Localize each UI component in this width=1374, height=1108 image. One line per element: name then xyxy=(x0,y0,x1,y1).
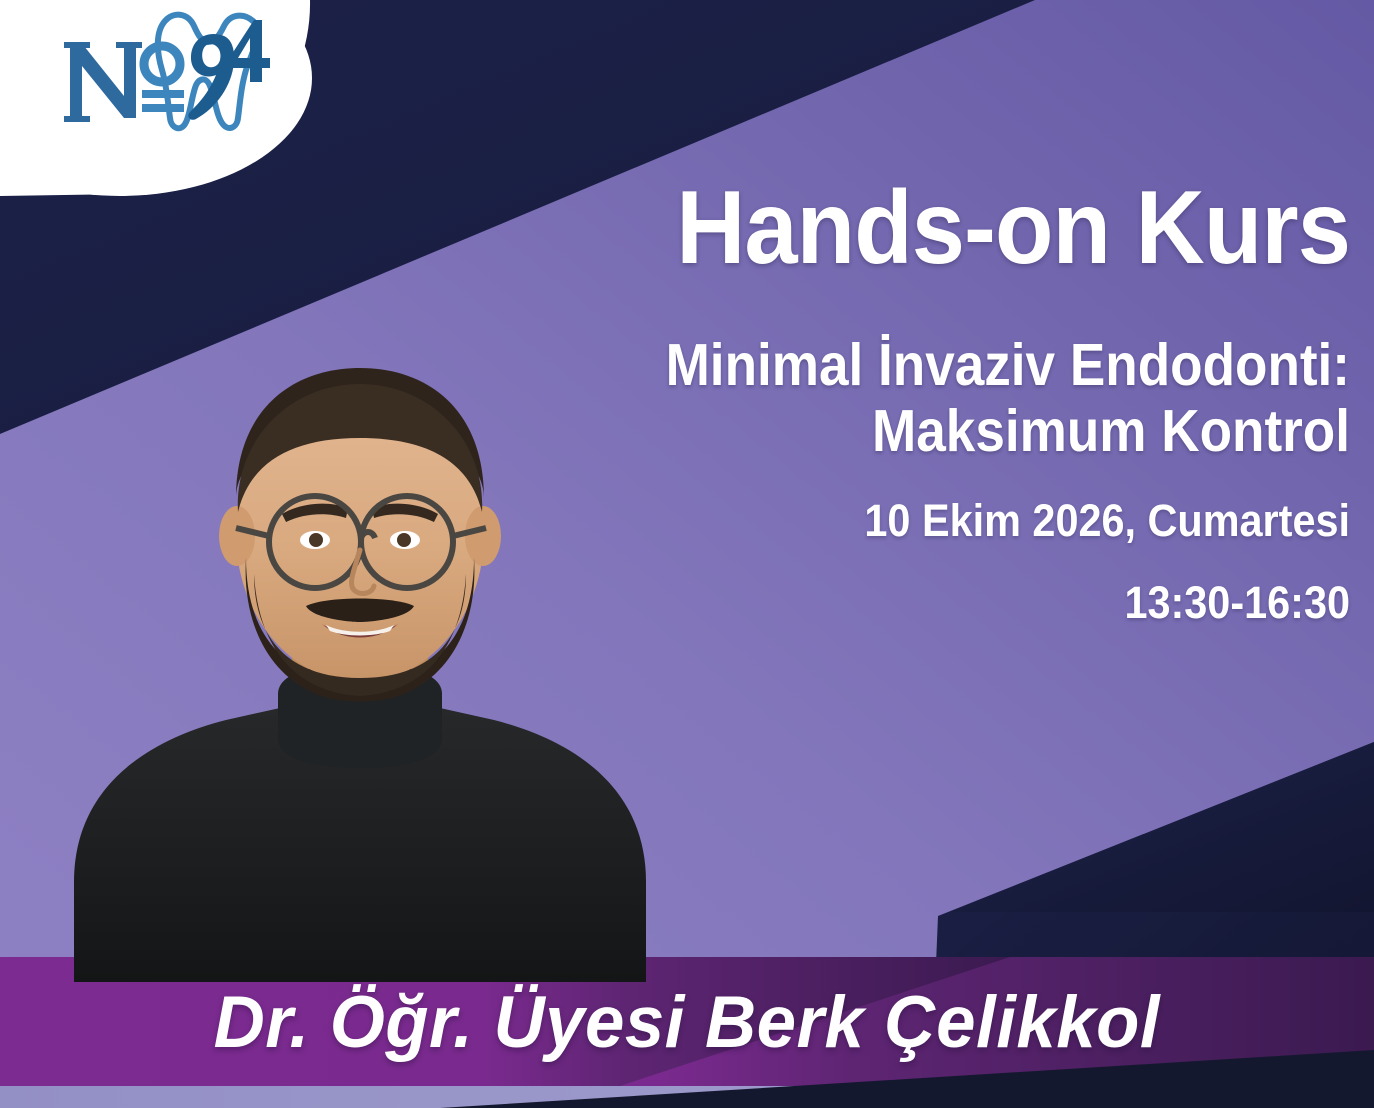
event-date: 10 Ekim 2026, Cumartesi xyxy=(623,498,1350,544)
page-title: Hands-on Kurs xyxy=(623,176,1350,280)
event-time: 13:30-16:30 xyxy=(623,580,1350,626)
event-datetime: 10 Ekim 2026, Cumartesi 13:30-16:30 xyxy=(560,498,1350,626)
course-subtitle-line-2: Maksimum Kontrol xyxy=(639,398,1350,464)
event-details: Hands-on Kurs Minimal İnvaziv Endodonti:… xyxy=(560,176,1350,626)
course-subtitle-line-1: Minimal İnvaziv Endodonti: xyxy=(639,332,1350,398)
course-announcement-poster: Hands-on Kurs Minimal İnvaziv Endodonti:… xyxy=(0,0,1374,1108)
course-subtitle: Minimal İnvaziv Endodonti: Maksimum Kont… xyxy=(639,332,1350,464)
